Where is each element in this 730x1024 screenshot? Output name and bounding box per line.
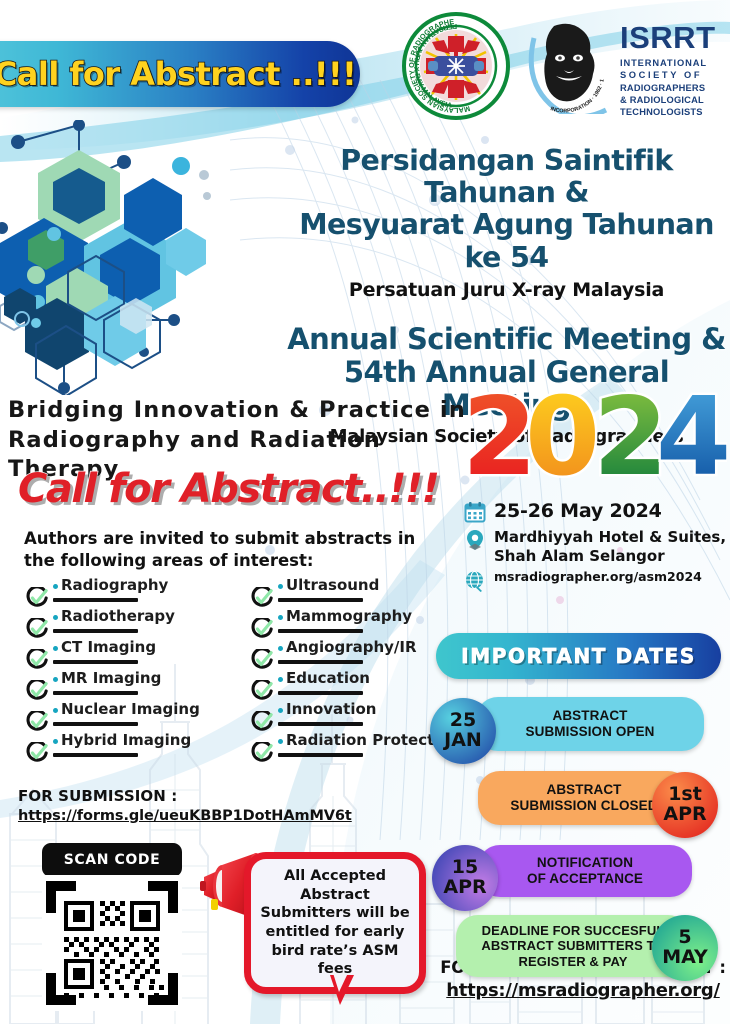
topic-label: Education bbox=[286, 669, 370, 687]
date-label: ABSTRACT SUBMISSION CLOSED bbox=[510, 782, 657, 814]
year-digit-2: 0 bbox=[525, 378, 595, 488]
topic-label: Angiography/IR bbox=[286, 638, 417, 656]
date-label-bar: NOTIFICATION OF ACCEPTANCE bbox=[478, 845, 692, 897]
topic-rule bbox=[53, 629, 138, 633]
year-2024-logo: 2 0 2 4 bbox=[462, 378, 727, 488]
topic-column-right: Ultrasound Mammography Angiography/IR bbox=[251, 578, 446, 764]
year-digit-4: 4 bbox=[656, 378, 727, 488]
topic-item: Radiography bbox=[26, 578, 221, 609]
topic-column-left: Radiography Radiotherapy CT Imaging bbox=[26, 578, 221, 764]
venue-line-1: Mardhiyyah Hotel & Suites, bbox=[494, 528, 730, 547]
date-label-line-2: SUBMISSION OPEN bbox=[525, 724, 654, 739]
submission-link[interactable]: https://forms.gle/ueuKBBP1DotHAmMV6t bbox=[18, 808, 352, 824]
check-circle-icon bbox=[26, 618, 48, 640]
topic-item: Radiotherapy bbox=[26, 609, 221, 640]
topic-label: Mammography bbox=[286, 607, 412, 625]
date-month: APR bbox=[443, 878, 486, 898]
check-circle-icon bbox=[26, 587, 48, 609]
topic-rule bbox=[53, 722, 138, 726]
venue-line-2: Shah Alam Selangor bbox=[494, 547, 730, 566]
year-digit-1: 2 bbox=[462, 378, 531, 488]
date-bubble: 25 JAN bbox=[430, 698, 496, 764]
topic-label: Nuclear Imaging bbox=[61, 700, 200, 718]
isrrt-subtitle: INTERNATIONAL SOCIETY OF RADIOGRAPHERS &… bbox=[620, 57, 726, 118]
check-circle-icon bbox=[251, 711, 273, 733]
date-label: NOTIFICATION OF ACCEPTANCE bbox=[527, 855, 643, 887]
topic-label: MR Imaging bbox=[61, 669, 161, 687]
date-bubble: 15 APR bbox=[432, 845, 498, 911]
topic-item: Ultrasound bbox=[251, 578, 446, 609]
bullet-dot bbox=[53, 677, 58, 682]
topic-label: Hybrid Imaging bbox=[61, 731, 191, 749]
topic-item: Hybrid Imaging bbox=[26, 733, 221, 764]
isrrt-line-3: RADIOGRAPHERS bbox=[620, 82, 726, 94]
malay-title-line-1: Persidangan Saintifik Tahunan & bbox=[283, 145, 730, 209]
event-website[interactable]: msradiographer.org/asm2024 bbox=[494, 569, 730, 584]
date-label-line-1: DEADLINE FOR SUCCESFUL bbox=[482, 923, 665, 938]
bullet-dot bbox=[278, 677, 283, 682]
important-date-row: 5 MAY DEADLINE FOR SUCCESFUL ABSTRACT SU… bbox=[430, 915, 730, 981]
bullet-dot bbox=[278, 584, 283, 589]
date-label-line-3: REGISTER & PAY bbox=[518, 954, 627, 969]
topic-label: Radiotherapy bbox=[61, 607, 175, 625]
bullet-dot bbox=[278, 615, 283, 620]
scan-code-label: SCAN CODE bbox=[64, 852, 161, 868]
topic-rule bbox=[53, 598, 138, 602]
event-venue: Mardhiyyah Hotel & Suites, Shah Alam Sel… bbox=[494, 528, 730, 565]
bullet-dot bbox=[53, 615, 58, 620]
topic-rule bbox=[278, 753, 363, 757]
invitation-text: Authors are invited to submit abstracts … bbox=[24, 528, 424, 572]
topic-rule bbox=[278, 629, 363, 633]
important-date-row: 15 APR NOTIFICATION OF ACCEPTANCE bbox=[430, 845, 730, 909]
topic-item: Innovation bbox=[251, 702, 446, 733]
topic-label: Ultrasound bbox=[286, 576, 379, 594]
date-month: JAN bbox=[444, 731, 482, 751]
topic-label: CT Imaging bbox=[61, 638, 156, 656]
event-date: 25-26 May 2024 bbox=[494, 500, 730, 522]
topic-item: Angiography/IR bbox=[251, 640, 446, 671]
call-for-abstract-banner: Call for Abstract ..!!! bbox=[0, 41, 360, 107]
date-month: MAY bbox=[662, 948, 708, 968]
bullet-dot bbox=[278, 646, 283, 651]
isrrt-wordmark: ISRRT INTERNATIONAL SOCIETY OF RADIOGRAP… bbox=[620, 22, 726, 118]
date-label-line-2: OF ACCEPTANCE bbox=[527, 871, 643, 886]
globe-icon bbox=[464, 570, 486, 592]
date-label: DEADLINE FOR SUCCESFUL ABSTRACT SUBMITTE… bbox=[481, 923, 664, 969]
topic-rule bbox=[278, 722, 363, 726]
early-bird-text: All Accepted Abstract Submitters will be… bbox=[251, 867, 419, 978]
more-info-link[interactable]: https://msradiographer.org/ bbox=[446, 980, 719, 1001]
submission-block: FOR SUBMISSION : https://forms.gle/ueuKB… bbox=[18, 787, 352, 825]
important-date-row: 1st APR ABSTRACT SUBMISSION CLOSED bbox=[430, 771, 730, 839]
check-circle-icon bbox=[26, 742, 48, 764]
bullet-dot bbox=[53, 584, 58, 589]
topic-label: Radiography bbox=[61, 576, 168, 594]
msr-logo: MALAYSIAN SOCIETY OF RADIOGRAPHERS PERSA… bbox=[402, 12, 510, 120]
date-label-line-1: ABSTRACT bbox=[552, 708, 627, 723]
topic-label: Innovation bbox=[286, 700, 376, 718]
check-circle-icon bbox=[251, 680, 273, 702]
topic-item: Radiation Protection bbox=[251, 733, 446, 764]
event-venue-row: Mardhiyyah Hotel & Suites, Shah Alam Sel… bbox=[464, 528, 730, 565]
topic-item: Mammography bbox=[251, 609, 446, 640]
isrrt-line-1: INTERNATIONAL bbox=[620, 57, 726, 69]
calendar-icon bbox=[464, 501, 486, 523]
date-bubble: 5 MAY bbox=[652, 915, 718, 981]
location-pin-icon bbox=[464, 529, 486, 551]
callout-tail-inner bbox=[333, 973, 348, 992]
scan-code-pill: SCAN CODE bbox=[42, 843, 182, 877]
date-label-line-2: ABSTRACT SUBMITTERS TO bbox=[481, 938, 664, 953]
isrrt-line-4: & RADIOLOGICAL bbox=[620, 94, 726, 106]
qr-code-block[interactable]: SCAN CODE bbox=[42, 843, 182, 1011]
topic-rule bbox=[278, 691, 363, 695]
topic-item: Nuclear Imaging bbox=[26, 702, 221, 733]
check-circle-icon bbox=[251, 742, 273, 764]
year-digit-3: 2 bbox=[593, 378, 662, 488]
date-label: ABSTRACT SUBMISSION OPEN bbox=[525, 708, 654, 740]
check-circle-icon bbox=[26, 680, 48, 702]
isrrt-name: ISRRT bbox=[620, 22, 726, 53]
bullet-dot bbox=[278, 739, 283, 744]
malay-organisation: Persatuan Juru X-ray Malaysia bbox=[283, 279, 730, 301]
topic-item: Education bbox=[251, 671, 446, 702]
important-dates-heading-text: IMPORTANT DATES bbox=[461, 644, 696, 668]
check-circle-icon bbox=[251, 618, 273, 640]
topic-rule bbox=[278, 660, 363, 664]
isrrt-line-2: SOCIETY OF bbox=[620, 69, 726, 81]
topic-rule bbox=[53, 753, 138, 757]
date-label-line-1: NOTIFICATION bbox=[537, 855, 633, 870]
important-date-row: 25 JAN ABSTRACT SUBMISSION OPEN bbox=[430, 697, 730, 765]
topic-item: CT Imaging bbox=[26, 640, 221, 671]
date-label-bar: ABSTRACT SUBMISSION OPEN bbox=[476, 697, 704, 751]
date-month: APR bbox=[663, 805, 706, 825]
date-label-line-1: ABSTRACT bbox=[546, 782, 621, 797]
call-for-abstract-banner-text: Call for Abstract ..!!! bbox=[0, 55, 356, 93]
check-circle-icon bbox=[26, 711, 48, 733]
date-label-line-2: SUBMISSION CLOSED bbox=[510, 798, 657, 813]
event-website-row[interactable]: msradiographer.org/asm2024 bbox=[464, 569, 730, 593]
check-circle-icon bbox=[26, 649, 48, 671]
qr-code-icon[interactable] bbox=[42, 875, 182, 1011]
poster-canvas: Call for Abstract ..!!! bbox=[0, 0, 730, 1024]
date-bubble: 1st APR bbox=[652, 772, 718, 838]
check-circle-icon bbox=[251, 587, 273, 609]
topic-areas-list: Radiography Radiotherapy CT Imaging bbox=[26, 578, 446, 764]
bullet-dot bbox=[53, 646, 58, 651]
submission-label: FOR SUBMISSION : bbox=[18, 787, 352, 805]
malay-title-line-2: Mesyuarat Agung Tahunan ke 54 bbox=[283, 209, 730, 273]
event-date-row: 25-26 May 2024 bbox=[464, 500, 730, 524]
bullet-dot bbox=[278, 708, 283, 713]
important-dates-list: 25 JAN ABSTRACT SUBMISSION OPEN 1st APR … bbox=[430, 697, 730, 987]
call-for-abstract-headline: Call for Abstract..!!! bbox=[18, 466, 458, 512]
event-details: 25-26 May 2024 Mardhiyyah Hotel & Suites… bbox=[464, 500, 730, 597]
topic-rule bbox=[53, 691, 138, 695]
hexagon-network-graphic bbox=[0, 120, 266, 395]
topic-rule bbox=[53, 660, 138, 664]
check-circle-icon bbox=[251, 649, 273, 671]
bullet-dot bbox=[53, 739, 58, 744]
bullet-dot bbox=[53, 708, 58, 713]
isrrt-line-5: TECHNOLOGISTS bbox=[620, 106, 726, 118]
important-dates-heading: IMPORTANT DATES bbox=[436, 633, 721, 679]
theme-line-1: Bridging Innovation & Practice in bbox=[8, 396, 468, 426]
isrrt-seal-icon: INCORPORATION · 1962 · 1923 bbox=[524, 18, 616, 114]
topic-rule bbox=[278, 598, 363, 602]
english-title-line-1: Annual Scientific Meeting & bbox=[283, 323, 730, 356]
topic-item: MR Imaging bbox=[26, 671, 221, 702]
